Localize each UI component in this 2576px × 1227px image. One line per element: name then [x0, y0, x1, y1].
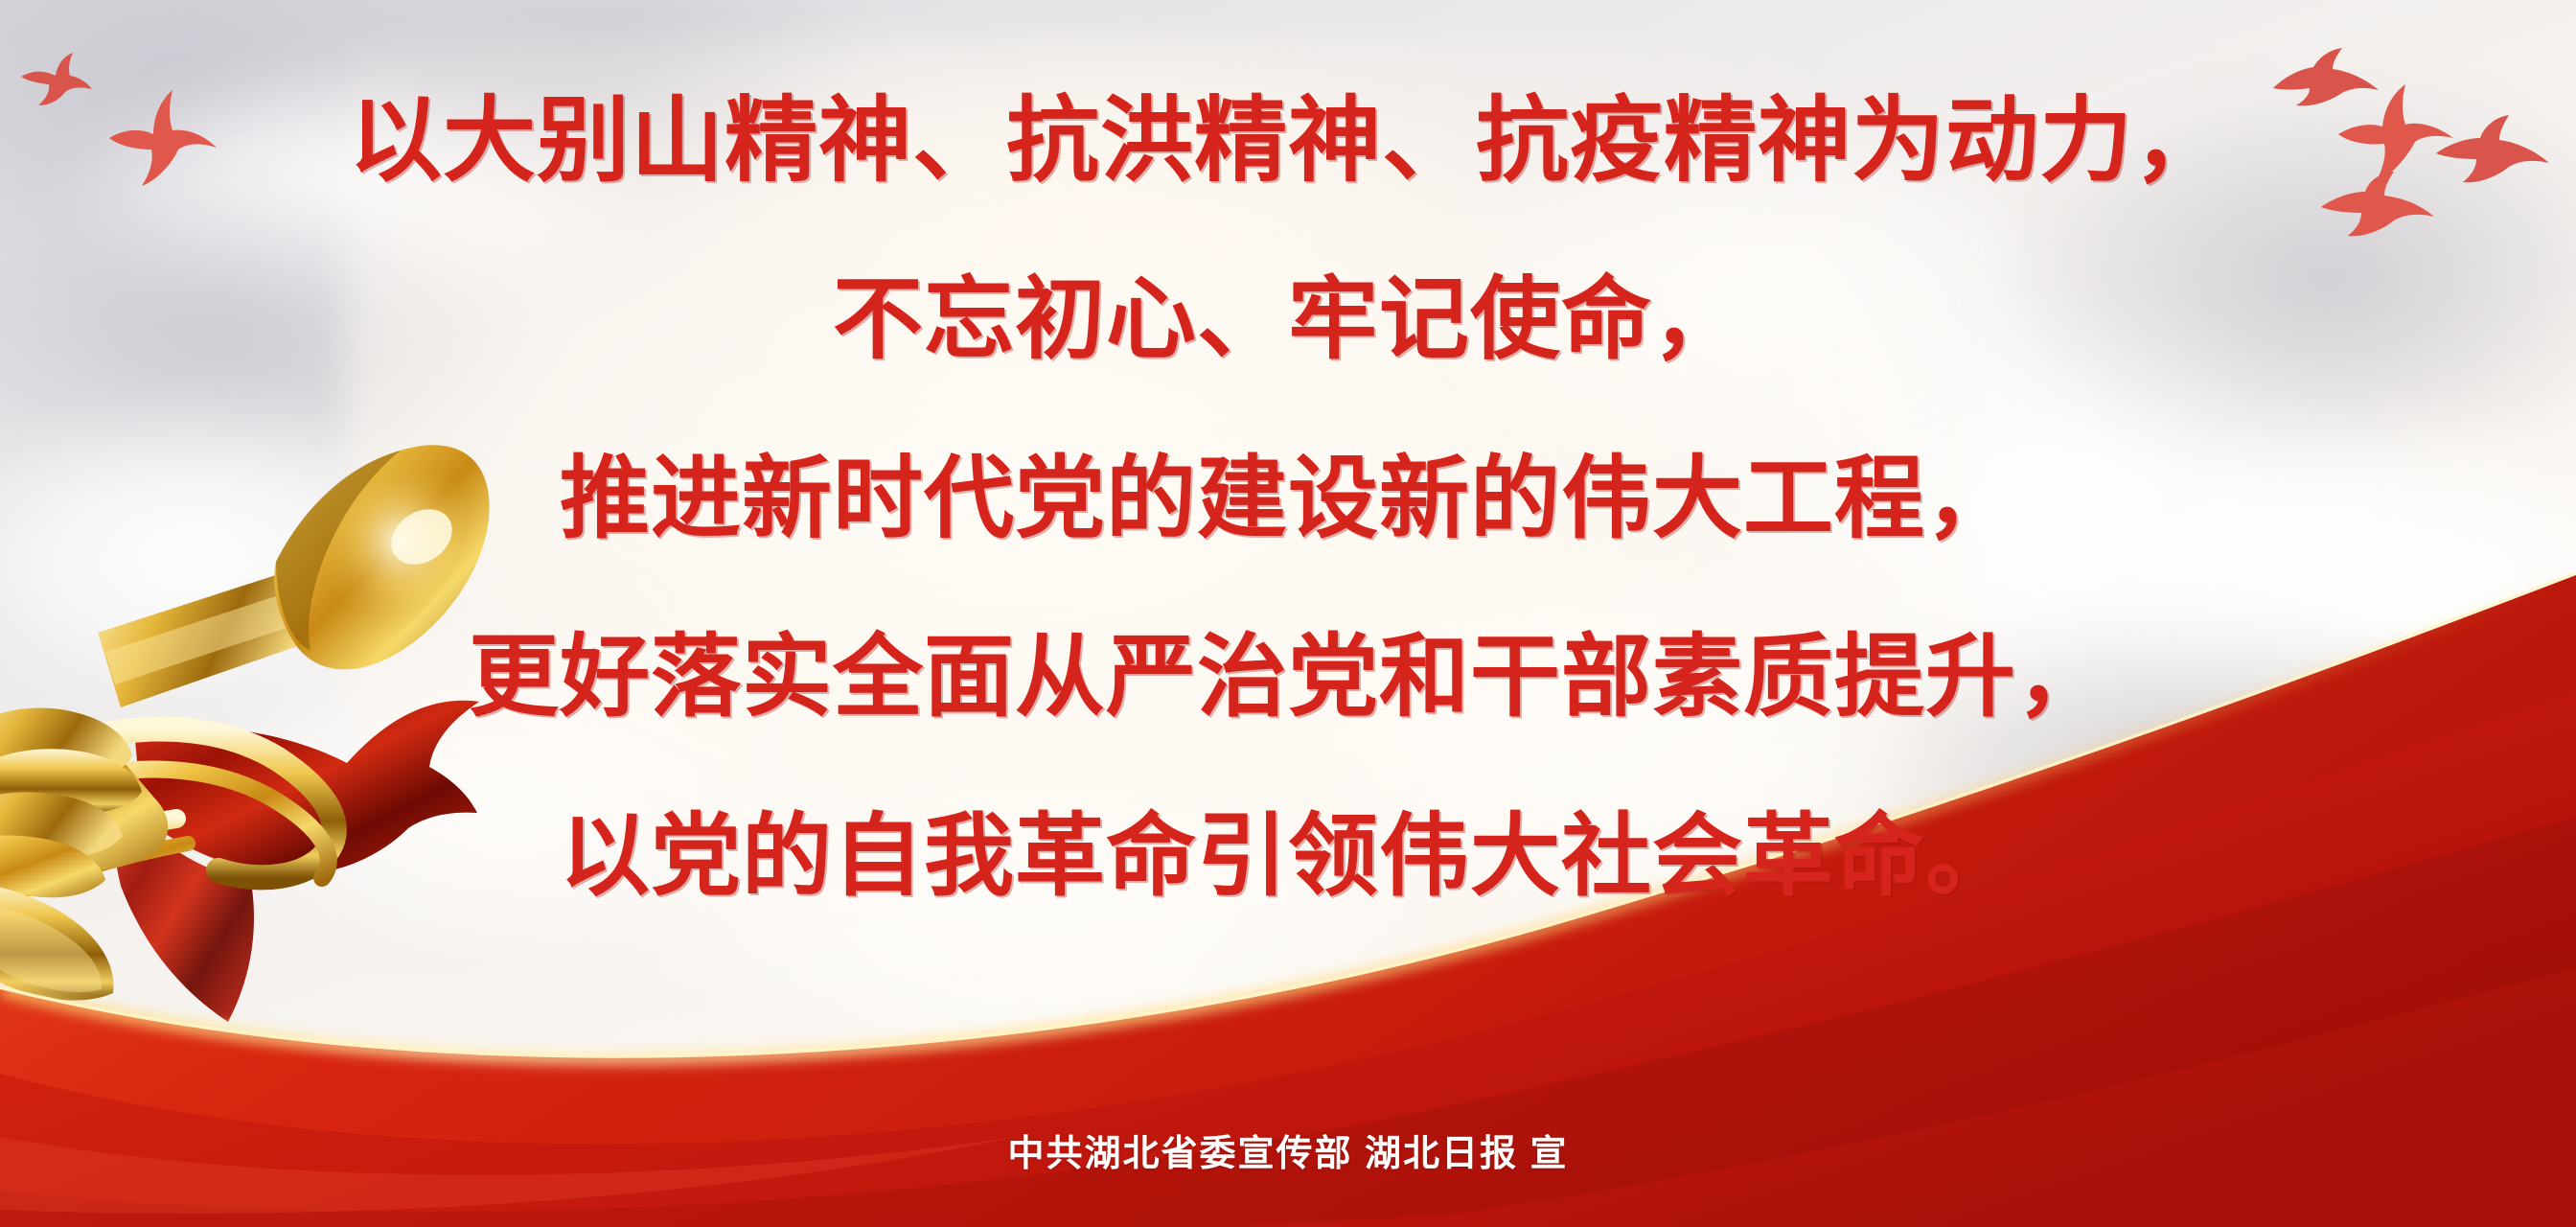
dove-icon	[17, 50, 103, 117]
headline-line-1: 以大别山精神、抗洪精神、抗疫精神为动力，	[287, 92, 2288, 190]
headline-line-4: 更好落实全面从严治党和干部素质提升，	[287, 630, 2288, 725]
headline-line-3: 推进新时代党的建设新的伟大工程，	[287, 451, 2288, 546]
headline-line-2: 不忘初心、牢记使命，	[287, 272, 2288, 367]
dove-icon	[103, 88, 228, 189]
poster-canvas: 以大别山精神、抗洪精神、抗疫精神为动力， 不忘初心、牢记使命， 推进新时代党的建…	[0, 0, 2576, 1227]
headline-block: 以大别山精神、抗洪精神、抗疫精神为动力， 不忘初心、牢记使命， 推进新时代党的建…	[287, 92, 2288, 904]
dove-icon	[2317, 171, 2440, 247]
headline-line-5: 以党的自我革命引领伟大社会革命。	[287, 809, 2288, 904]
credit-line: 中共湖北省委宣传部 湖北日报 宣	[0, 1123, 2576, 1176]
dove-icon	[2432, 113, 2555, 196]
